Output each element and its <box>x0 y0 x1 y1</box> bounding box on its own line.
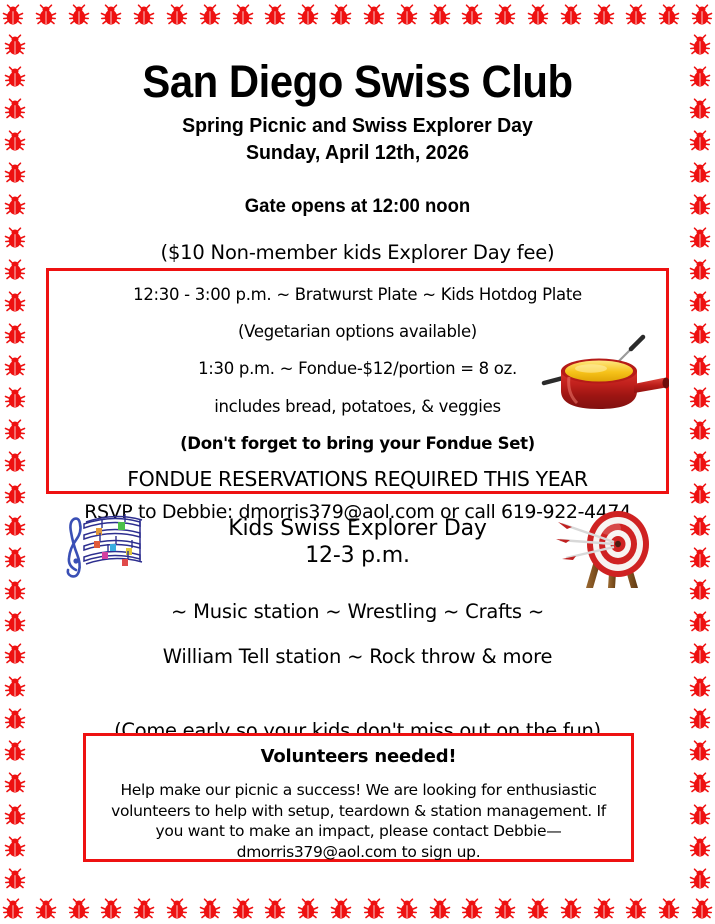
fondue-reservation-notice: FONDUE RESERVATIONS REQUIRED THIS YEAR <box>49 467 666 491</box>
ladybug-icon <box>98 896 124 922</box>
ladybug-icon <box>687 866 713 892</box>
ladybug-icon <box>394 896 420 922</box>
music-notes-icon <box>60 508 152 584</box>
volunteer-body-line-3: you want to make an impact, please conta… <box>100 821 617 842</box>
food-line-1: 12:30 - 3:00 p.m. ~ Bratwurst Plate ~ Ki… <box>49 287 666 304</box>
ladybug-icon <box>2 641 28 667</box>
ladybug-icon <box>689 896 715 922</box>
kids-activities-line-2: William Tell station ~ Rock throw & more <box>34 645 681 668</box>
ladybug-icon <box>2 353 28 379</box>
ladybug-icon <box>164 2 190 28</box>
ladybug-icon <box>687 674 713 700</box>
ladybug-icon <box>66 2 92 28</box>
ladybug-icon <box>66 896 92 922</box>
fondue-set-reminder: (Don't forget to bring your Fondue Set) <box>49 436 666 453</box>
ladybug-icon <box>623 2 649 28</box>
ladybug-icon <box>492 2 518 28</box>
ladybug-icon <box>197 2 223 28</box>
fee-notice: ($10 Non-member kids Explorer Day fee) <box>34 241 681 264</box>
ladybug-icon <box>687 641 713 667</box>
ladybug-icon <box>558 896 584 922</box>
food-info-box: 12:30 - 3:00 p.m. ~ Bratwurst Plate ~ Ki… <box>46 268 669 494</box>
ladybug-icon <box>427 2 453 28</box>
volunteer-info-box: Volunteers needed! Help make our picnic … <box>83 733 634 862</box>
ladybug-icon <box>262 896 288 922</box>
ladybug-icon <box>687 32 713 58</box>
page-title: San Diego Swiss Club <box>57 58 659 105</box>
ladybug-icon <box>2 192 28 218</box>
ladybug-icon <box>2 609 28 635</box>
volunteer-body-line-1: Help make our picnic a success! We are l… <box>100 780 617 801</box>
ladybug-icon <box>2 802 28 828</box>
ladybug-icon <box>2 417 28 443</box>
ladybug-icon <box>2 96 28 122</box>
ladybug-icon <box>2 706 28 732</box>
ladybug-icon <box>394 2 420 28</box>
ladybug-icon <box>656 2 682 28</box>
flyer-page: San Diego Swiss Club Spring Picnic and S… <box>0 0 715 924</box>
ladybug-icon <box>262 2 288 28</box>
ladybug-icon <box>459 896 485 922</box>
ladybug-icon <box>525 896 551 922</box>
ladybug-icon <box>687 257 713 283</box>
ladybug-icon <box>2 160 28 186</box>
subtitle-line-2: Sunday, April 12th, 2026 <box>50 140 665 167</box>
ladybug-icon <box>164 896 190 922</box>
ladybug-icon <box>687 738 713 764</box>
ladybug-icon <box>328 2 354 28</box>
ladybug-icon <box>687 192 713 218</box>
ladybug-icon <box>2 481 28 507</box>
ladybug-icon <box>2 738 28 764</box>
ladybug-icon <box>2 834 28 860</box>
ladybug-icon <box>687 225 713 251</box>
ladybug-icon <box>2 866 28 892</box>
ladybug-icon <box>361 896 387 922</box>
ladybug-icon <box>2 449 28 475</box>
ladybug-icon <box>687 321 713 347</box>
gate-notice: Gate opens at 12:00 noon <box>50 195 665 218</box>
ladybug-icon <box>687 417 713 443</box>
ladybug-icon <box>2 674 28 700</box>
ladybug-icon <box>687 481 713 507</box>
ladybug-icon <box>2 64 28 90</box>
ladybug-icon <box>98 2 124 28</box>
ladybug-icon <box>687 353 713 379</box>
ladybug-icon <box>230 896 256 922</box>
ladybug-icon <box>687 513 713 539</box>
ladybug-icon <box>2 513 28 539</box>
ladybug-icon <box>2 289 28 315</box>
ladybug-icon <box>687 577 713 603</box>
ladybug-icon <box>687 385 713 411</box>
kids-activities-line-1: ~ Music station ~ Wrestling ~ Crafts ~ <box>34 600 681 623</box>
ladybug-icon <box>2 225 28 251</box>
ladybug-icon <box>2 128 28 154</box>
ladybug-icon <box>0 896 26 922</box>
ladybug-icon <box>687 609 713 635</box>
ladybug-icon <box>2 321 28 347</box>
ladybug-icon <box>2 577 28 603</box>
ladybug-icon <box>687 160 713 186</box>
ladybug-icon <box>131 896 157 922</box>
ladybug-icon <box>558 2 584 28</box>
ladybug-icon <box>459 2 485 28</box>
archery-target-icon <box>556 502 660 592</box>
ladybug-icon <box>689 2 715 28</box>
ladybug-icon <box>2 257 28 283</box>
ladybug-icon <box>687 64 713 90</box>
ladybug-icon <box>656 896 682 922</box>
ladybug-icon <box>361 2 387 28</box>
ladybug-icon <box>0 2 26 28</box>
ladybug-icon <box>131 2 157 28</box>
ladybug-icon <box>295 2 321 28</box>
ladybug-icon <box>295 896 321 922</box>
flyer-content: San Diego Swiss Club Spring Picnic and S… <box>34 34 681 890</box>
ladybug-icon <box>591 2 617 28</box>
ladybug-icon <box>33 896 59 922</box>
ladybug-icon <box>687 289 713 315</box>
ladybug-icon <box>2 32 28 58</box>
ladybug-icon <box>623 896 649 922</box>
volunteer-body: Help make our picnic a success! We are l… <box>86 780 631 862</box>
ladybug-icon <box>687 449 713 475</box>
volunteer-title: Volunteers needed! <box>86 746 631 767</box>
ladybug-icon <box>687 802 713 828</box>
ladybug-icon <box>427 896 453 922</box>
ladybug-icon <box>687 706 713 732</box>
ladybug-icon <box>687 770 713 796</box>
fondue-pot-icon <box>539 331 669 417</box>
ladybug-icon <box>2 770 28 796</box>
ladybug-icon <box>328 896 354 922</box>
ladybug-icon <box>687 128 713 154</box>
volunteer-body-line-4: dmorris379@aol.com to sign up. <box>100 842 617 863</box>
ladybug-icon <box>687 96 713 122</box>
volunteer-body-line-2: volunteers to help with setup, teardown … <box>100 801 617 822</box>
subtitle-line-1: Spring Picnic and Swiss Explorer Day <box>50 113 665 140</box>
ladybug-icon <box>197 896 223 922</box>
ladybug-icon <box>2 385 28 411</box>
ladybug-icon <box>2 545 28 571</box>
ladybug-icon <box>525 2 551 28</box>
ladybug-icon <box>687 834 713 860</box>
ladybug-icon <box>492 896 518 922</box>
ladybug-icon <box>230 2 256 28</box>
ladybug-icon <box>687 545 713 571</box>
subtitle: Spring Picnic and Swiss Explorer Day Sun… <box>50 113 665 166</box>
ladybug-icon <box>33 2 59 28</box>
ladybug-icon <box>591 896 617 922</box>
